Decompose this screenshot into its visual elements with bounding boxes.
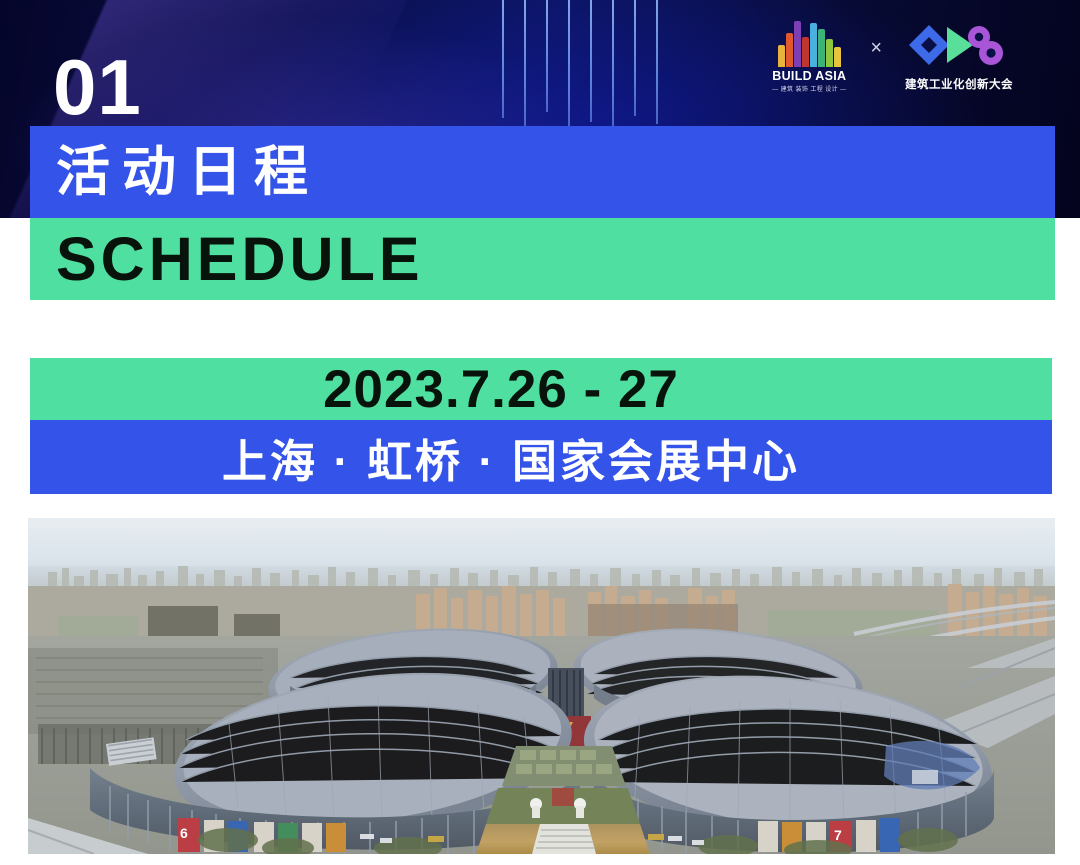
header-line-3 bbox=[546, 0, 548, 112]
section-number: 01 bbox=[53, 48, 142, 126]
location-bar: 上海 · 虹桥 · 国家会展中心 bbox=[30, 420, 1052, 494]
logo-group: BUILD ASIA — 建筑 装饰 工程 设计 — × 建 bbox=[766, 20, 1018, 93]
schedule-poster: 01 BUILD ASIA — 建筑 装饰 工程 设计 — × bbox=[0, 0, 1080, 865]
title-en-text: SCHEDULE bbox=[30, 229, 424, 290]
logo-bar-2 bbox=[786, 33, 793, 67]
logo-bar-6 bbox=[818, 29, 825, 67]
header-line-1 bbox=[502, 0, 504, 118]
logo-bar-1 bbox=[778, 45, 785, 67]
header-line-6 bbox=[612, 0, 614, 128]
build-asia-logo-subtitle: — 建筑 装饰 工程 设计 — bbox=[766, 84, 852, 93]
header-line-4 bbox=[568, 0, 570, 128]
logo-bar-4 bbox=[802, 37, 809, 67]
conference-logo-name: 建筑工业化创新大会 bbox=[900, 76, 1018, 92]
building-bars-icon bbox=[766, 20, 852, 67]
conference-logo[interactable]: 建筑工业化创新大会 bbox=[900, 22, 1018, 92]
title-bar-english: SCHEDULE bbox=[30, 218, 1055, 300]
abstract-geometry-icon bbox=[900, 22, 1018, 69]
logo-bar-7 bbox=[826, 39, 833, 67]
header-line-8 bbox=[656, 0, 658, 124]
header-line-7 bbox=[634, 0, 636, 116]
date-bar: 2023.7.26 - 27 bbox=[30, 358, 1052, 420]
header-line-5 bbox=[590, 0, 592, 122]
header-line-2 bbox=[524, 0, 526, 126]
logo-bar-5 bbox=[810, 23, 817, 67]
event-location-text: 上海 · 虹桥 · 国家会展中心 bbox=[30, 420, 1052, 494]
necc-shanghai-aerial-photo: 6 bbox=[28, 518, 1055, 854]
logo-separator-x: × bbox=[870, 37, 882, 76]
build-asia-logo-name: BUILD ASIA bbox=[766, 69, 852, 83]
logo-bar-3 bbox=[794, 21, 801, 67]
build-asia-logo[interactable]: BUILD ASIA — 建筑 装饰 工程 设计 — bbox=[766, 20, 852, 93]
event-date-text: 2023.7.26 - 27 bbox=[30, 358, 1052, 420]
title-bar-chinese: 活动日程 bbox=[30, 126, 1055, 218]
title-cn-text: 活动日程 bbox=[30, 145, 320, 199]
header-vertical-lines-decor bbox=[502, 0, 677, 128]
logo-bar-8 bbox=[834, 47, 841, 67]
